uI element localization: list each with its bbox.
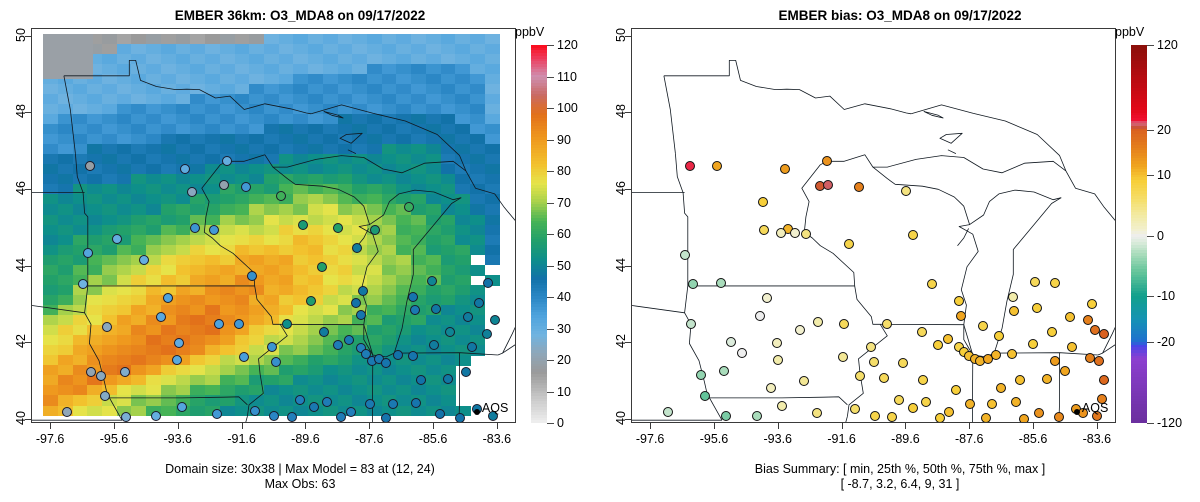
x-axis-tick-label: -93.6 <box>164 432 193 446</box>
map-boundary <box>110 398 123 420</box>
y-axis-tick-label: 46 <box>614 181 628 195</box>
aqs-station-marker[interactable] <box>445 327 455 337</box>
map-boundary <box>675 154 687 286</box>
aqs-station-marker[interactable] <box>112 234 122 244</box>
aqs-station-marker[interactable] <box>410 305 420 315</box>
aqs-station-marker[interactable] <box>726 337 736 347</box>
colorbar-tick <box>547 423 554 424</box>
aqs-station-marker[interactable] <box>1047 327 1057 337</box>
colorbar-unit-label: ppbV <box>1115 25 1144 39</box>
x-axis-tick <box>778 423 779 429</box>
y-axis-tick-label: 44 <box>14 258 28 272</box>
colorbar-tick-label: 120 <box>1157 38 1178 52</box>
x-axis-tick-label: -91.6 <box>827 432 856 446</box>
aqs-station-marker[interactable] <box>214 319 224 329</box>
aqs-station-marker[interactable] <box>319 327 329 337</box>
y-axis-tick-label: 46 <box>14 181 28 195</box>
aqs-station-marker[interactable] <box>187 187 197 197</box>
colorbar-tick-label: 40 <box>557 290 571 304</box>
colorbar-segment <box>531 420 547 423</box>
aqs-station-marker[interactable] <box>1050 278 1060 288</box>
x-axis-tick-label: -97.6 <box>636 432 665 446</box>
x-axis-tick-label: -85.6 <box>1019 432 1048 446</box>
aqs-station-marker[interactable] <box>322 397 332 407</box>
aqs-station-marker[interactable] <box>844 239 854 249</box>
x-axis-tick-label: -91.6 <box>227 432 256 446</box>
map-boundary <box>855 286 881 324</box>
x-axis-tick <box>50 423 51 429</box>
x-axis-tick <box>242 423 243 429</box>
aqs-station-marker[interactable] <box>1099 329 1109 339</box>
colorbar-tick <box>1147 45 1154 46</box>
colorbar-gradient <box>1131 45 1147 423</box>
x-axis-tick <box>305 423 306 429</box>
map-boundary <box>255 286 281 324</box>
colorbar-tick-label: 50 <box>557 259 571 273</box>
aqs-station-marker[interactable] <box>250 406 260 416</box>
aqs-station-marker[interactable] <box>1008 292 1018 302</box>
colorbar-tick <box>547 392 554 393</box>
map-boundary <box>924 112 943 119</box>
colorbar-tick-label: 100 <box>557 101 578 115</box>
plot-area-bias: AQS <box>631 28 1116 423</box>
map-boundary <box>632 306 685 313</box>
colorbar-gradient <box>531 45 547 423</box>
x-axis-tick <box>905 423 906 429</box>
aqs-station-marker[interactable] <box>854 182 864 192</box>
aqs-station-marker[interactable] <box>276 191 286 201</box>
x-axis-tick-label: -85.6 <box>419 432 448 446</box>
x-axis-tick <box>497 423 498 429</box>
y-axis-tick-label: 50 <box>614 28 628 42</box>
aqs-station-marker[interactable] <box>696 370 706 380</box>
y-axis-tick-label: 42 <box>614 335 628 349</box>
y-axis-tick-label: 40 <box>614 411 628 425</box>
colorbar-tick-label: 0 <box>1157 229 1164 243</box>
aqs-station-marker[interactable] <box>935 413 945 423</box>
aqs-station-marker[interactable] <box>663 407 673 417</box>
aqs-legend-label: AQS <box>482 401 508 415</box>
aqs-station-marker[interactable] <box>455 413 465 423</box>
map-boundary <box>85 286 110 398</box>
aqs-station-marker[interactable] <box>156 312 166 322</box>
aqs-station-marker[interactable] <box>222 156 232 166</box>
panel-bias: EMBER bias: O3_MDA8 on 09/17/2022 AQS -9… <box>600 0 1200 502</box>
aqs-station-marker[interactable] <box>78 279 88 289</box>
x-axis-tick-label: -89.6 <box>291 432 320 446</box>
aqs-station-marker[interactable] <box>1083 315 1093 325</box>
map-boundary <box>664 60 911 113</box>
aqs-station-marker[interactable] <box>918 375 928 385</box>
map-boundary <box>846 416 848 422</box>
x-axis-tick-label: -93.6 <box>764 432 793 446</box>
aqs-station-marker[interactable] <box>120 367 130 377</box>
colorbar-tick-label: 30 <box>557 322 571 336</box>
colorbar-tick <box>1147 296 1154 297</box>
map-boundary <box>710 398 723 420</box>
x-axis-tick-label: -83.6 <box>483 432 512 446</box>
aqs-legend-label: AQS <box>1082 401 1108 415</box>
map-boundary <box>246 416 248 422</box>
x-axis-tick <box>433 423 434 429</box>
aqs-station-marker[interactable] <box>474 298 484 308</box>
aqs-station-marker[interactable] <box>482 329 492 339</box>
aqs-station-marker[interactable] <box>869 357 879 367</box>
colorbar-tick <box>547 140 554 141</box>
aqs-station-marker[interactable] <box>180 164 190 174</box>
y-axis-tick-label: 40 <box>14 411 28 425</box>
y-axis-tick-label: 50 <box>14 28 28 42</box>
map-boundary <box>873 167 970 225</box>
aqs-station-marker[interactable] <box>1054 412 1064 422</box>
colorbar-tick <box>547 266 554 267</box>
aqs-station-marker[interactable] <box>163 293 173 303</box>
aqs-station-marker[interactable] <box>490 315 500 325</box>
map-boundary <box>940 133 962 143</box>
colorbar-tick <box>547 360 554 361</box>
map-boundary <box>466 171 516 355</box>
colorbar-tick <box>1147 130 1154 131</box>
aqs-station-marker[interactable] <box>351 298 361 308</box>
colorbar-tick-label: 70 <box>557 196 571 210</box>
aqs-station-marker[interactable] <box>965 399 975 409</box>
aqs-station-marker[interactable] <box>1067 342 1077 352</box>
aqs-station-marker[interactable] <box>1007 349 1017 359</box>
aqs-station-marker[interactable] <box>712 161 722 171</box>
aqs-station-marker[interactable] <box>981 413 991 423</box>
aqs-station-marker[interactable] <box>1065 312 1075 322</box>
colorbar-segment <box>1131 420 1147 423</box>
map-boundary <box>948 150 956 154</box>
map-boundary <box>459 353 460 422</box>
colorbar-tick <box>547 234 554 235</box>
y-axis-tick-label: 42 <box>14 335 28 349</box>
colorbar-unit-label: ppbV <box>515 25 544 39</box>
aqs-station-marker[interactable] <box>680 250 690 260</box>
aqs-station-marker[interactable] <box>1085 353 1095 363</box>
colorbar-tick <box>547 108 554 109</box>
map-boundary <box>664 76 676 154</box>
map-boundary <box>958 228 969 245</box>
map-boundary <box>340 133 362 143</box>
map-boundary <box>827 155 1066 173</box>
aqs-station-marker[interactable] <box>298 220 308 230</box>
aqs-station-marker[interactable] <box>838 352 848 362</box>
aqs-station-marker[interactable] <box>801 229 811 239</box>
colorbar-tick <box>547 297 554 298</box>
panel-model: EMBER 36km: O3_MDA8 on 09/17/2022 AQS -9… <box>0 0 600 502</box>
map-boundary <box>324 112 343 119</box>
aqs-station-marker[interactable] <box>822 156 832 166</box>
aqs-station-marker[interactable] <box>1030 277 1040 287</box>
x-axis-tick-label: -97.6 <box>36 432 65 446</box>
map-boundary <box>847 324 887 416</box>
colorbar-tick-label: 110 <box>557 70 577 84</box>
aqs-station-marker[interactable] <box>467 342 477 352</box>
aqs-station-marker[interactable] <box>839 319 849 329</box>
aqs-station-marker[interactable] <box>463 312 473 322</box>
y-axis-tick-label: 48 <box>14 104 28 118</box>
map-boundary <box>273 167 370 225</box>
aqs-station-marker[interactable] <box>239 352 249 362</box>
x-axis-tick-label: -87.6 <box>955 432 984 446</box>
aqs-station-marker[interactable] <box>404 202 414 212</box>
aqs-station-marker[interactable] <box>174 338 184 348</box>
x-axis-tick <box>114 423 115 429</box>
aqs-station-marker[interactable] <box>408 351 418 361</box>
colorbar-tick <box>547 77 554 78</box>
colorbar-tick-label: 90 <box>557 133 571 147</box>
map-boundary <box>348 150 356 154</box>
aqs-station-marker[interactable] <box>773 355 783 365</box>
colorbar-tick-label: 0 <box>557 416 564 430</box>
aqs-station-marker[interactable] <box>388 399 398 409</box>
aqs-station-marker[interactable] <box>866 342 876 352</box>
panel-bias-title: EMBER bias: O3_MDA8 on 09/17/2022 <box>600 8 1200 23</box>
map-boundary <box>64 60 311 113</box>
bias-caption-line2: [ -8.7, 3.2, 6.4, 9, 31 ] <box>600 477 1200 492</box>
map-boundary <box>685 286 710 398</box>
colorbar-tick <box>547 171 554 172</box>
colorbar-tick-label: 20 <box>1157 123 1171 137</box>
panel-model-title: EMBER 36km: O3_MDA8 on 09/17/2022 <box>0 8 600 23</box>
colorbar-tick-label: 120 <box>557 38 578 52</box>
x-axis-tick-label: -95.6 <box>100 432 129 446</box>
aqs-station-marker[interactable] <box>762 293 772 303</box>
colorbar-tick <box>1147 342 1154 343</box>
map-boundary <box>247 324 287 416</box>
aqs-station-marker[interactable] <box>780 164 790 174</box>
aqs-station-marker[interactable] <box>241 182 251 192</box>
aqs-station-marker[interactable] <box>431 304 441 314</box>
aqs-station-marker[interactable] <box>772 338 782 348</box>
y-axis-tick-label: 44 <box>614 258 628 272</box>
aqs-station-marker[interactable] <box>879 373 889 383</box>
aqs-station-marker[interactable] <box>1015 375 1025 385</box>
colorbar-tick-label: 20 <box>557 353 571 367</box>
x-axis-tick <box>650 423 651 429</box>
x-axis-tick <box>178 423 179 429</box>
colorbar-tick-label: 80 <box>557 164 571 178</box>
colorbar-tick <box>1147 236 1154 237</box>
aqs-station-marker[interactable] <box>870 411 880 421</box>
aqs-station-marker[interactable] <box>1019 414 1029 423</box>
x-axis-tick-label: -87.6 <box>355 432 384 446</box>
x-axis-tick-label: -83.6 <box>1083 432 1112 446</box>
aqs-station-marker[interactable] <box>777 401 787 411</box>
colorbar-tick-label: -20 <box>1157 335 1175 349</box>
x-axis-tick <box>1033 423 1034 429</box>
x-axis-tick-label: -89.6 <box>891 432 920 446</box>
colorbar-tick-label: -120 <box>1157 416 1182 430</box>
aqs-station-marker[interactable] <box>1011 397 1021 407</box>
aqs-station-marker[interactable] <box>177 402 187 412</box>
colorbar-tick-label: 60 <box>557 227 571 241</box>
aqs-station-marker[interactable] <box>758 197 768 207</box>
map-boundary <box>75 154 87 286</box>
aqs-station-marker[interactable] <box>994 331 1004 341</box>
aqs-station-marker[interactable] <box>688 279 698 289</box>
aqs-station-marker[interactable] <box>921 397 931 407</box>
colorbar-tick <box>1147 175 1154 176</box>
aqs-station-marker[interactable] <box>358 286 368 296</box>
x-axis-tick <box>1097 423 1098 429</box>
aqs-station-marker[interactable] <box>795 325 805 335</box>
aqs-station-marker[interactable] <box>356 310 366 320</box>
x-axis-tick <box>969 423 970 429</box>
model-caption-line2: Max Obs: 63 <box>0 477 600 492</box>
aqs-station-marker[interactable] <box>483 278 493 288</box>
aqs-station-marker[interactable] <box>172 355 182 365</box>
aqs-station-marker[interactable] <box>151 411 161 421</box>
x-axis-tick-label: -95.6 <box>700 432 729 446</box>
map-boundary <box>64 76 76 154</box>
model-caption-line1: Domain size: 30x38 | Max Model = 83 at (… <box>0 462 600 477</box>
aqs-station-marker[interactable] <box>271 357 281 367</box>
map-boundary <box>227 155 466 173</box>
map-boundary <box>202 161 255 286</box>
map-boundary <box>32 306 85 313</box>
colorbar-tick-label: 10 <box>557 385 571 399</box>
aqs-station-marker[interactable] <box>719 366 729 376</box>
colorbar-tick-label: 10 <box>1157 168 1171 182</box>
aqs-station-marker[interactable] <box>139 255 149 265</box>
figure-root: EMBER 36km: O3_MDA8 on 09/17/2022 AQS -9… <box>0 0 1200 502</box>
plot-area-model: AQS <box>31 28 516 423</box>
aqs-station-marker[interactable] <box>333 223 343 233</box>
colorbar-tick <box>547 45 554 46</box>
y-axis-tick-label: 48 <box>614 104 628 118</box>
bias-caption-line1: Bias Summary: [ min, 25th %, 50th %, 75t… <box>600 462 1200 477</box>
aqs-station-marker[interactable] <box>927 279 937 289</box>
x-axis-tick <box>714 423 715 429</box>
aqs-station-marker[interactable] <box>752 411 762 421</box>
aqs-station-marker[interactable] <box>943 334 953 344</box>
x-axis-tick <box>369 423 370 429</box>
map-boundary <box>911 105 1066 171</box>
aqs-station-marker[interactable] <box>1050 356 1060 366</box>
colorbar-tick <box>1147 423 1154 424</box>
aqs-station-marker[interactable] <box>336 412 346 422</box>
aqs-station-marker[interactable] <box>96 371 106 381</box>
colorbar-tick <box>547 203 554 204</box>
aqs-station-marker[interactable] <box>766 383 776 393</box>
colorbar-tick <box>547 329 554 330</box>
map-boundary <box>311 105 466 171</box>
aqs-station-marker[interactable] <box>987 399 997 409</box>
aqs-station-marker[interactable] <box>991 350 1001 360</box>
colorbar-tick-label: -10 <box>1157 289 1175 303</box>
x-axis-tick <box>842 423 843 429</box>
